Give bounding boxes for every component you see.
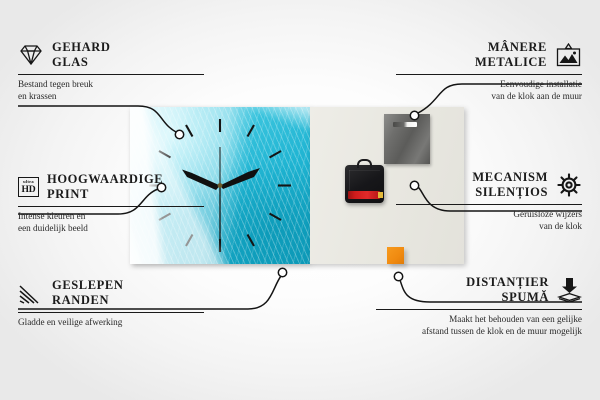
feature-silent-mechanism: MECANISMSILENȚIOS Geruisloze wijzersvan … xyxy=(396,170,582,233)
ultra-hd-bottom-label: HD xyxy=(22,185,36,195)
feature-title: GEHARDGLAS xyxy=(52,40,110,71)
diagonal-lines-icon xyxy=(18,282,44,305)
feature-title: GESLEPENRANDEN xyxy=(52,278,124,309)
feature-desc: Eenvoudige installatievan de klok aan de… xyxy=(396,75,582,103)
feature-metal-handles: MÂNEREMETALICE Eenvoudige installatievan… xyxy=(396,40,582,103)
clock-mechanism xyxy=(345,165,384,203)
feature-title: HOOGWAARDIGEPRINT xyxy=(47,172,163,203)
picture-frame-icon xyxy=(555,43,582,68)
feature-ground-edges: GESLEPENRANDEN Gladde en veilige afwerki… xyxy=(18,278,204,328)
feature-tempered-glass: GEHARDGLAS Bestand tegen breuken krassen xyxy=(18,40,204,103)
feature-desc: Intense kleuren eneen duidelijk beeld xyxy=(18,207,204,235)
feature-desc: Gladde en veilige afwerking xyxy=(18,313,204,329)
diamond-icon xyxy=(18,43,44,67)
feature-foam-spacer: DISTANȚIERSPUMĂ Maakt het behouden van e… xyxy=(376,275,582,338)
mechanism-hanging-loop xyxy=(357,159,372,168)
metal-hanger-plate xyxy=(384,114,430,164)
feature-desc: Geruisloze wijzersvan de klok xyxy=(396,205,582,233)
feature-high-quality-print: ultra HD HOOGWAARDIGEPRINT Intense kleur… xyxy=(18,172,204,235)
infographic-canvas: GEHARDGLAS Bestand tegen breuken krassen… xyxy=(0,0,600,400)
gear-icon xyxy=(556,172,582,198)
ultra-hd-icon: ultra HD xyxy=(18,177,39,197)
feature-title: DISTANȚIERSPUMĂ xyxy=(466,275,549,306)
feature-desc: Maakt het behouden van een gelijkeafstan… xyxy=(376,310,582,338)
feature-desc: Bestand tegen breuken krassen xyxy=(18,75,204,103)
battery xyxy=(348,191,380,199)
hanger-slot xyxy=(393,122,417,127)
arrow-down-stack-icon xyxy=(557,277,582,303)
battery-terminal xyxy=(378,192,383,198)
foam-spacer xyxy=(387,247,404,264)
connector-endpoint-ground-edges xyxy=(278,268,286,276)
mechanism-texture xyxy=(349,170,380,190)
feature-title: MECANISMSILENȚIOS xyxy=(472,170,548,201)
feature-title: MÂNEREMETALICE xyxy=(475,40,547,71)
